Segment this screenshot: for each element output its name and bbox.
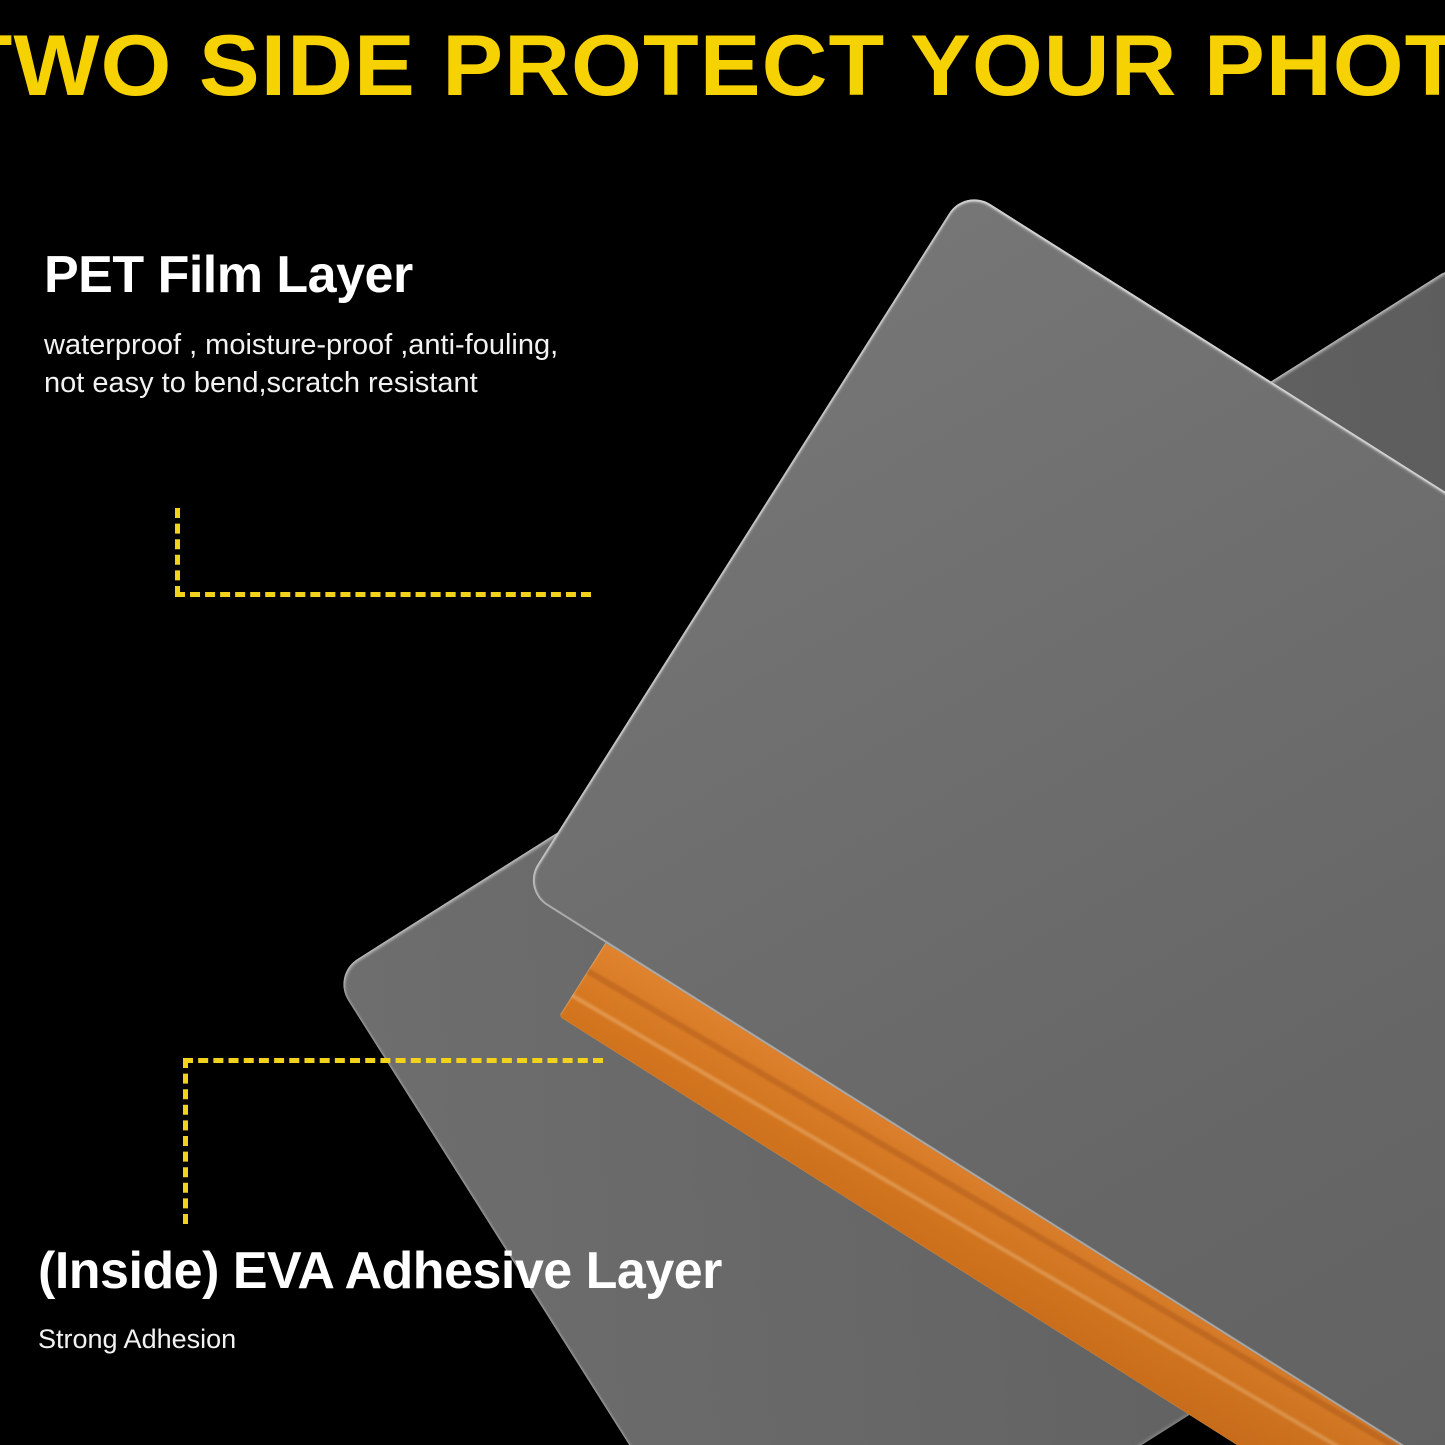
pet-callout-vertical-line: [175, 508, 180, 596]
pet-film-description: waterproof , moisture-proof ,anti-foulin…: [44, 326, 684, 402]
pet-film-title: PET Film Layer: [44, 246, 684, 304]
pet-desc-line-2: not easy to bend,scratch resistant: [44, 367, 478, 399]
eva-layer-title: (Inside) EVA Adhesive Layer: [38, 1242, 898, 1300]
eva-callout-vertical-line: [183, 1058, 188, 1224]
pet-film-label-block: PET Film Layer waterproof , moisture-pro…: [44, 246, 684, 402]
infographic-canvas: TWO SIDE PROTECT YOUR PHOTO PET Film Lay…: [0, 0, 1445, 1445]
pet-desc-line-1: waterproof , moisture-proof ,anti-foulin…: [44, 329, 558, 361]
pet-callout-horizontal-line: [175, 592, 591, 597]
eva-layer-description: Strong Adhesion: [38, 1320, 898, 1358]
eva-callout-horizontal-line: [183, 1058, 603, 1063]
page-title: TWO SIDE PROTECT YOUR PHOTO: [0, 18, 1445, 114]
eva-layer-label-block: (Inside) EVA Adhesive Layer Strong Adhes…: [38, 1242, 898, 1358]
